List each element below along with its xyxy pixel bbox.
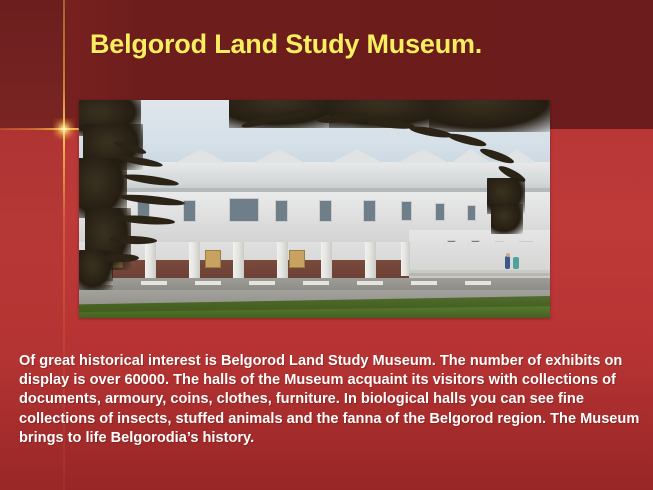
photo-pedestrian	[505, 256, 510, 269]
photo-curb-marking	[465, 281, 491, 285]
photo-wall-plaque	[205, 250, 221, 268]
museum-photo	[79, 100, 550, 318]
photo-curb-marking	[357, 281, 383, 285]
photo-window	[435, 203, 445, 221]
photo-column	[189, 242, 200, 280]
photo-window	[467, 205, 476, 221]
photo-window	[229, 198, 259, 222]
photo-tree-foliage	[491, 204, 523, 234]
photo-window	[183, 200, 196, 222]
photo-curb-marking	[303, 281, 329, 285]
photo-pedestrian	[513, 257, 519, 269]
photo-tree-foliage	[429, 100, 550, 132]
photo-window	[401, 201, 412, 221]
photo-curb-marking	[195, 281, 221, 285]
body-paragraph: Of great historical interest is Belgorod…	[19, 352, 642, 448]
page-title: Belgorod Land Study Museum.	[90, 27, 560, 61]
photo-column	[277, 242, 288, 280]
photo-window	[363, 200, 376, 222]
photo-wall-plaque	[289, 250, 305, 268]
photo-curb-marking	[411, 281, 437, 285]
photo-curb-marking	[249, 281, 275, 285]
photo-column	[365, 242, 376, 280]
photo-column	[233, 242, 244, 280]
photo-window	[275, 200, 288, 222]
photo-tree-leaf	[103, 254, 139, 262]
photo-curb-marking	[141, 281, 167, 285]
photo-window	[319, 200, 332, 222]
photo-column	[145, 242, 156, 280]
photo-column	[321, 242, 332, 280]
slide: Belgorod Land Study Museum.	[0, 0, 653, 490]
photo-pedestrian	[506, 253, 510, 257]
decorative-star-icon	[53, 118, 75, 140]
